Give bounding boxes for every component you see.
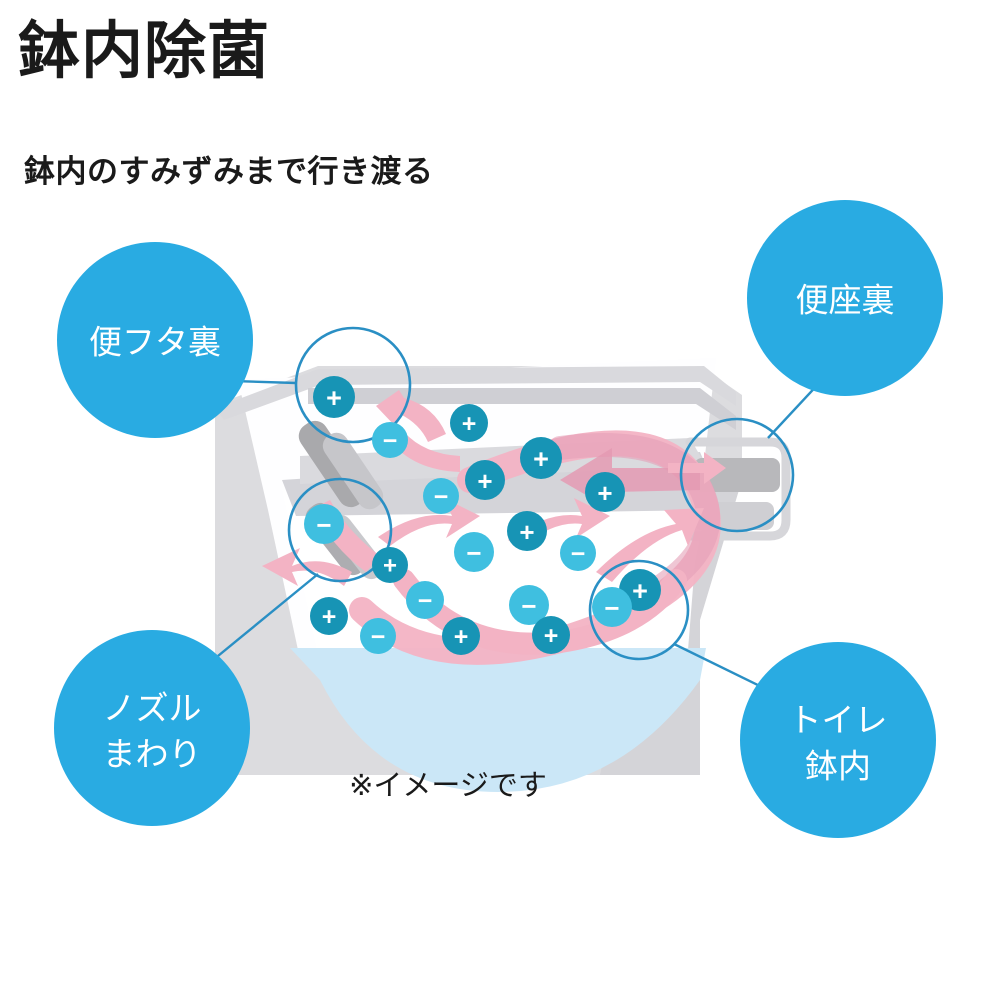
minus-ion-icon: − [406, 581, 444, 619]
plus-ion-icon: + [520, 437, 562, 479]
minus-ion-icon: − [372, 422, 408, 458]
badge-label-line1: ノズル [103, 690, 202, 727]
svg-text:−: − [418, 587, 433, 615]
plus-ion-icon: + [507, 511, 547, 551]
badge-circle[interactable] [740, 642, 936, 838]
badge-label-line2: まわり [103, 736, 202, 773]
svg-text:+: + [326, 383, 342, 413]
callout-badge-nozzle-around[interactable]: ノズル まわり [54, 630, 250, 826]
svg-text:+: + [544, 622, 559, 650]
infographic-page: 鉢内除菌 鉢内のすみずみまで行き渡る [0, 0, 1000, 1000]
badge-circle[interactable] [54, 630, 250, 826]
callout-badge-toilet-bowl[interactable]: トイレ 鉢内 [740, 642, 936, 838]
plus-ion-icon: + [532, 616, 570, 654]
plus-ion-icon: + [372, 547, 408, 583]
svg-text:+: + [454, 623, 469, 651]
plus-ion-icon: + [465, 460, 505, 500]
callout-badge-lid-underside[interactable]: 便フタ裏 [57, 242, 253, 438]
badge-label-line1: トイレ [789, 702, 888, 739]
minus-ion-icon: − [360, 618, 396, 654]
toilet-sterilization-illustration: + − + + + − + − + − − + + − − − + − + + [0, 180, 1000, 860]
badge-label-line2: 鉢内 [805, 748, 871, 785]
plus-ion-icon: + [310, 597, 348, 635]
minus-ion-icon: − [454, 532, 494, 572]
plus-ion-icon: + [585, 472, 625, 512]
plus-ion-icon: + [450, 404, 488, 442]
svg-text:+: + [597, 478, 612, 508]
image-disclaimer-caption: ※イメージです [349, 770, 547, 802]
minus-ion-icon: − [423, 478, 459, 514]
svg-text:−: − [521, 591, 536, 621]
plus-ion-icon: + [442, 617, 480, 655]
badge-label: 便フタ裏 [89, 324, 221, 361]
svg-text:+: + [477, 466, 492, 496]
svg-text:+: + [632, 576, 648, 606]
svg-text:+: + [383, 553, 397, 580]
svg-text:−: − [371, 623, 386, 651]
svg-text:+: + [519, 517, 534, 547]
callout-badge-seat-underside[interactable]: 便座裏 [747, 200, 943, 396]
minus-ion-icon: − [560, 535, 596, 571]
svg-text:+: + [462, 410, 477, 438]
svg-text:−: − [434, 483, 449, 511]
svg-text:−: − [604, 593, 619, 623]
minus-ion-icon: − [304, 504, 344, 544]
svg-text:−: − [571, 540, 586, 568]
svg-text:+: + [533, 444, 549, 474]
svg-text:−: − [316, 510, 331, 540]
svg-text:−: − [383, 427, 398, 455]
svg-text:−: − [466, 538, 481, 568]
plus-ion-icon: + [313, 376, 355, 418]
page-title: 鉢内除菌 [18, 18, 270, 86]
badge-label: 便座裏 [796, 282, 895, 319]
minus-ion-icon: − [592, 587, 632, 627]
svg-text:+: + [322, 603, 337, 631]
